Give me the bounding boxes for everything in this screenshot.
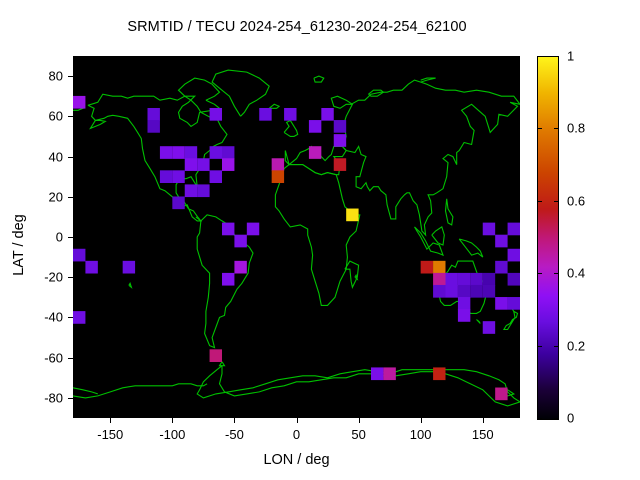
y-tick-label: -60 (13, 350, 63, 365)
coastline-segment (275, 165, 359, 306)
figure-root: SRMTID / TECU 2024-254_61230-2024-254_62… (0, 0, 640, 480)
x-tick-mark (421, 418, 422, 423)
coastline-segment (88, 94, 227, 221)
y-tick-label: 80 (13, 69, 63, 84)
colorbar[interactable] (537, 56, 559, 420)
colorbar-tick-label: 0 (567, 411, 574, 426)
x-axis-label: LON / deg (73, 452, 520, 468)
colorbar-tick-mark (554, 273, 558, 274)
colorbar-tick-mark (554, 201, 558, 202)
colorbar-tick-mark (554, 346, 558, 347)
coastline-segment (284, 120, 298, 136)
coastline-segment (197, 366, 520, 406)
coastline-segment (196, 215, 253, 348)
x-tick-label: -100 (159, 427, 185, 442)
coastline-segment (73, 384, 207, 398)
coastline-segment (285, 147, 346, 175)
y-tick-label: 40 (13, 149, 63, 164)
coastline-segment (73, 104, 83, 110)
x-tick-label: 100 (410, 427, 432, 442)
y-tick-mark (68, 237, 73, 238)
x-tick-label: 50 (351, 427, 365, 442)
x-tick-mark (234, 418, 235, 423)
colorbar-tick-mark (554, 418, 558, 419)
colorbar-tick-label: 0.8 (567, 121, 585, 136)
x-tick-mark (359, 418, 360, 423)
y-tick-mark (68, 398, 73, 399)
coastline-segment (73, 388, 98, 394)
y-tick-label: 60 (13, 109, 63, 124)
colorbar-tick-mark (554, 56, 558, 57)
colorbar-tick-mark (538, 418, 542, 419)
coastline-segment (415, 227, 444, 255)
coastline-segment (129, 283, 132, 287)
coastline-segment (477, 320, 481, 324)
colorbar-tick-mark (538, 346, 542, 347)
coastline-segment (331, 80, 520, 235)
x-tick-label: 150 (472, 427, 494, 442)
colorbar-tick-mark (538, 128, 542, 129)
y-axis-label: LAT / deg (11, 185, 27, 305)
coastline-map (73, 56, 520, 418)
colorbar-tick-mark (554, 128, 558, 129)
y-tick-mark (68, 116, 73, 117)
coastline-segment (504, 307, 518, 329)
map-plot-area[interactable] (73, 56, 520, 418)
y-tick-label: -40 (13, 310, 63, 325)
colorbar-tick-label: 1 (567, 49, 574, 64)
colorbar-tick-mark (538, 201, 542, 202)
y-tick-label: -80 (13, 390, 63, 405)
colorbar-tick-label: 0.4 (567, 266, 585, 281)
y-tick-mark (68, 317, 73, 318)
coastline-segment (446, 199, 453, 225)
y-tick-mark (68, 76, 73, 77)
coastline-segment (269, 104, 279, 108)
coastline-segment (459, 239, 483, 257)
colorbar-tick-label: 0.2 (567, 338, 585, 353)
x-tick-mark (297, 418, 298, 423)
x-tick-mark (483, 418, 484, 423)
coastline-segment (220, 362, 225, 366)
y-tick-mark (68, 358, 73, 359)
coastline-segment (421, 78, 436, 82)
y-tick-mark (68, 157, 73, 158)
x-tick-label: -150 (97, 427, 123, 442)
coastline-segment (314, 76, 324, 82)
colorbar-tick-mark (538, 56, 542, 57)
y-tick-mark (68, 197, 73, 198)
colorbar-tick-mark (538, 273, 542, 274)
x-tick-mark (172, 418, 173, 423)
x-tick-label: -50 (225, 427, 244, 442)
x-tick-mark (110, 418, 111, 423)
colorbar-gradient (538, 57, 558, 419)
x-tick-label: 0 (293, 427, 300, 442)
coastline-segment (437, 261, 487, 313)
y-tick-mark (68, 277, 73, 278)
coastline-segment (212, 70, 269, 116)
colorbar-tick-label: 0.6 (567, 193, 585, 208)
coastline-segment (345, 261, 359, 287)
page-title: SRMTID / TECU 2024-254_61230-2024-254_62… (0, 19, 594, 35)
coastline-segment (432, 227, 445, 245)
